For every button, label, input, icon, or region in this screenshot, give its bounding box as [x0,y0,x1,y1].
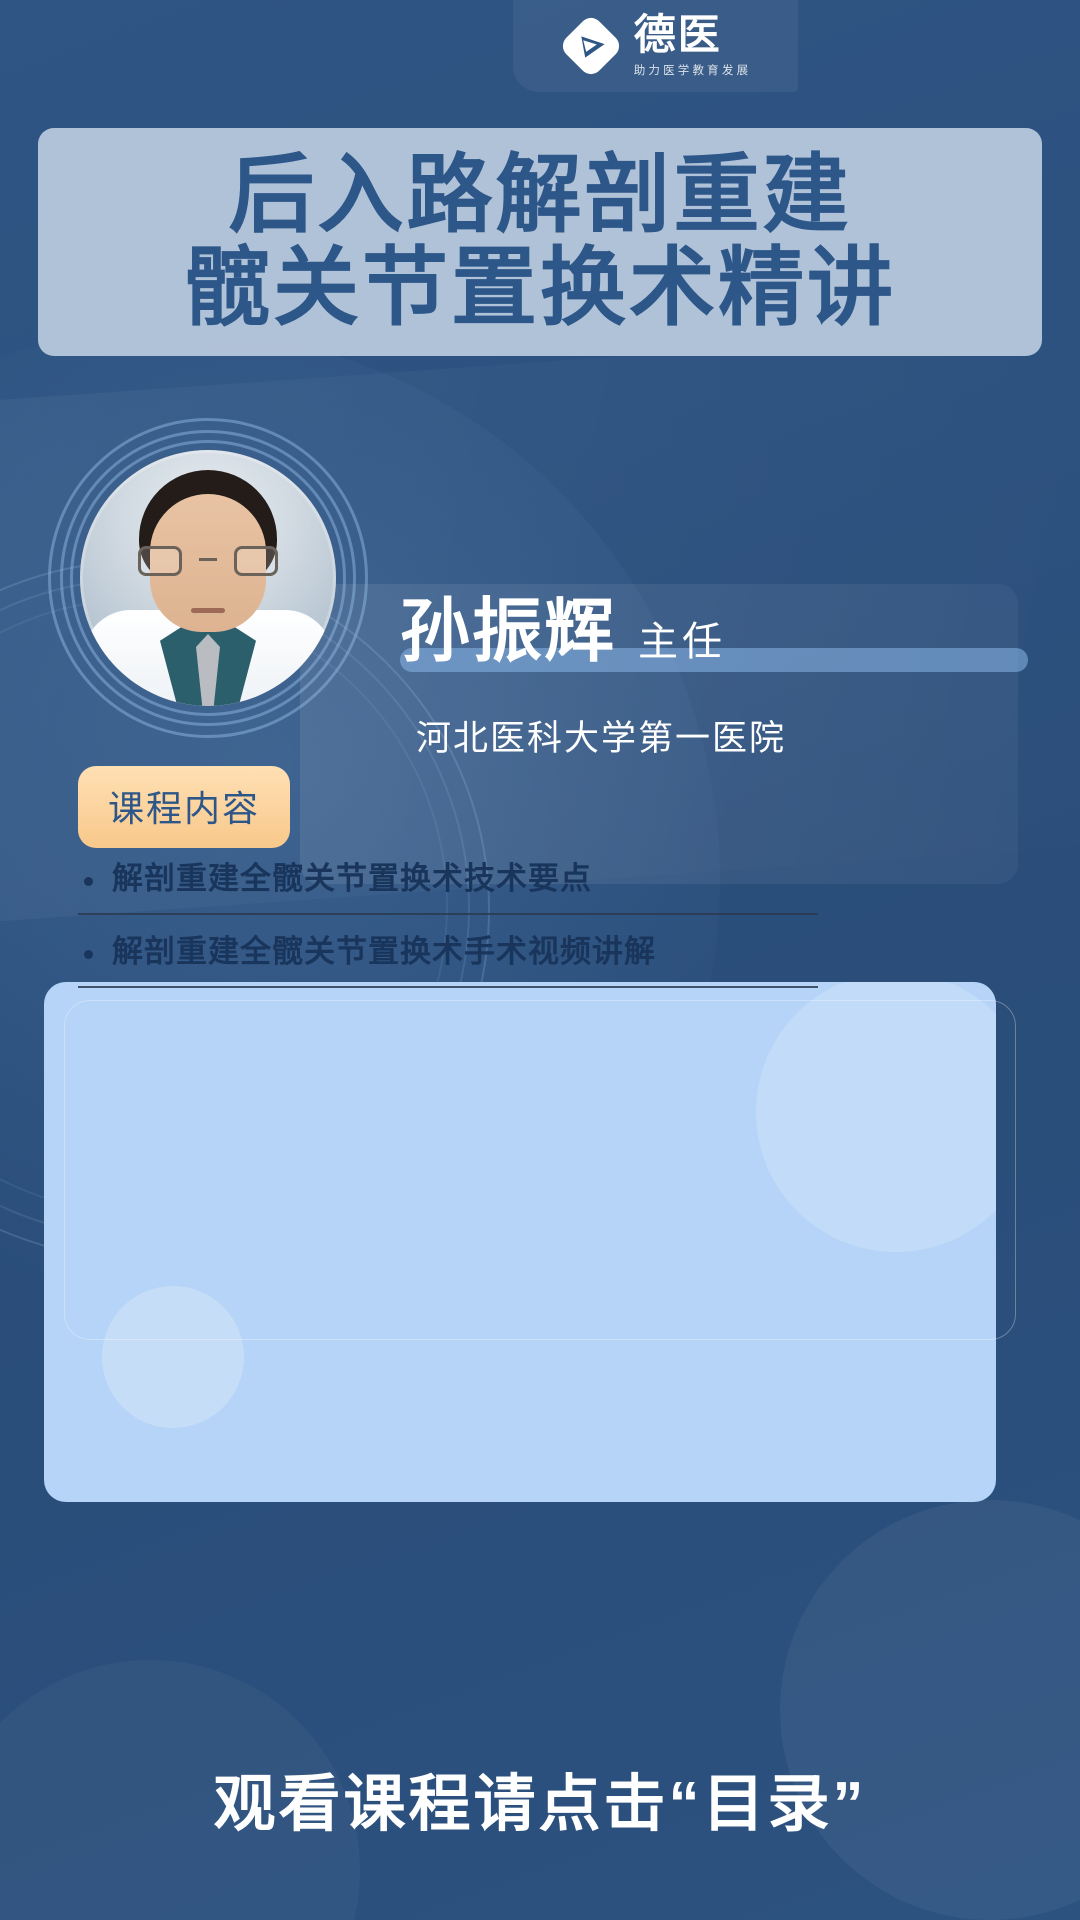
title-line-1: 后入路解剖重建 [229,150,852,241]
title-line-2: 髋关节置换术精讲 [184,243,896,334]
bullet-icon [84,950,93,959]
divider [78,986,818,988]
divider [78,913,818,915]
brand-logo-plate: 德医 助力医学教育发展 [513,0,798,92]
footer: 观看课程请点击“目录” [0,1675,1080,1920]
course-content-badge-label: 课程内容 [108,788,260,829]
brand-text: 德医 助力医学教育发展 [634,14,752,78]
list-item[interactable]: 解剖重建全髋关节置换术技术要点 [78,860,818,933]
card-circle-bottom-left [102,1286,244,1428]
speaker-role: 主任 [638,622,726,662]
course-content-card [44,982,996,1502]
card-circle-top-right [756,982,996,1252]
bullet-icon [84,877,93,886]
course-content-badge: 课程内容 [78,766,290,848]
brand-logo: 德医 助力医学教育发展 [560,14,752,78]
course-item-label: 解剖重建全髋关节置换术技术要点 [112,861,592,896]
speaker-hospital: 河北医科大学第一医院 [416,710,1000,761]
speaker-name: 孙振辉 [400,596,616,666]
avatar [80,450,336,706]
course-item-label: 解剖重建全髋关节置换术手术视频讲解 [112,934,656,969]
poster-root: 德医 助力医学教育发展 后入路解剖重建 髋关节置换术精讲 孙振辉 主任 河北医科… [0,0,1080,1920]
brand-name: 德医 [634,14,722,56]
brand-tagline: 助力医学教育发展 [634,62,752,78]
list-item[interactable]: 解剖重建全髋关节置换术手术视频讲解 [78,933,818,1006]
footer-cta-text: 观看课程请点击“目录” [213,1753,866,1843]
speaker-info: 孙振辉 主任 河北医科大学第一医院 [400,596,1000,761]
course-list: 解剖重建全髋关节置换术技术要点 解剖重建全髋关节置换术手术视频讲解 [78,860,818,1006]
speaker-name-row: 孙振辉 主任 [400,596,1000,666]
play-diamond-icon [560,15,622,77]
title-plate: 后入路解剖重建 髋关节置换术精讲 [38,128,1042,356]
